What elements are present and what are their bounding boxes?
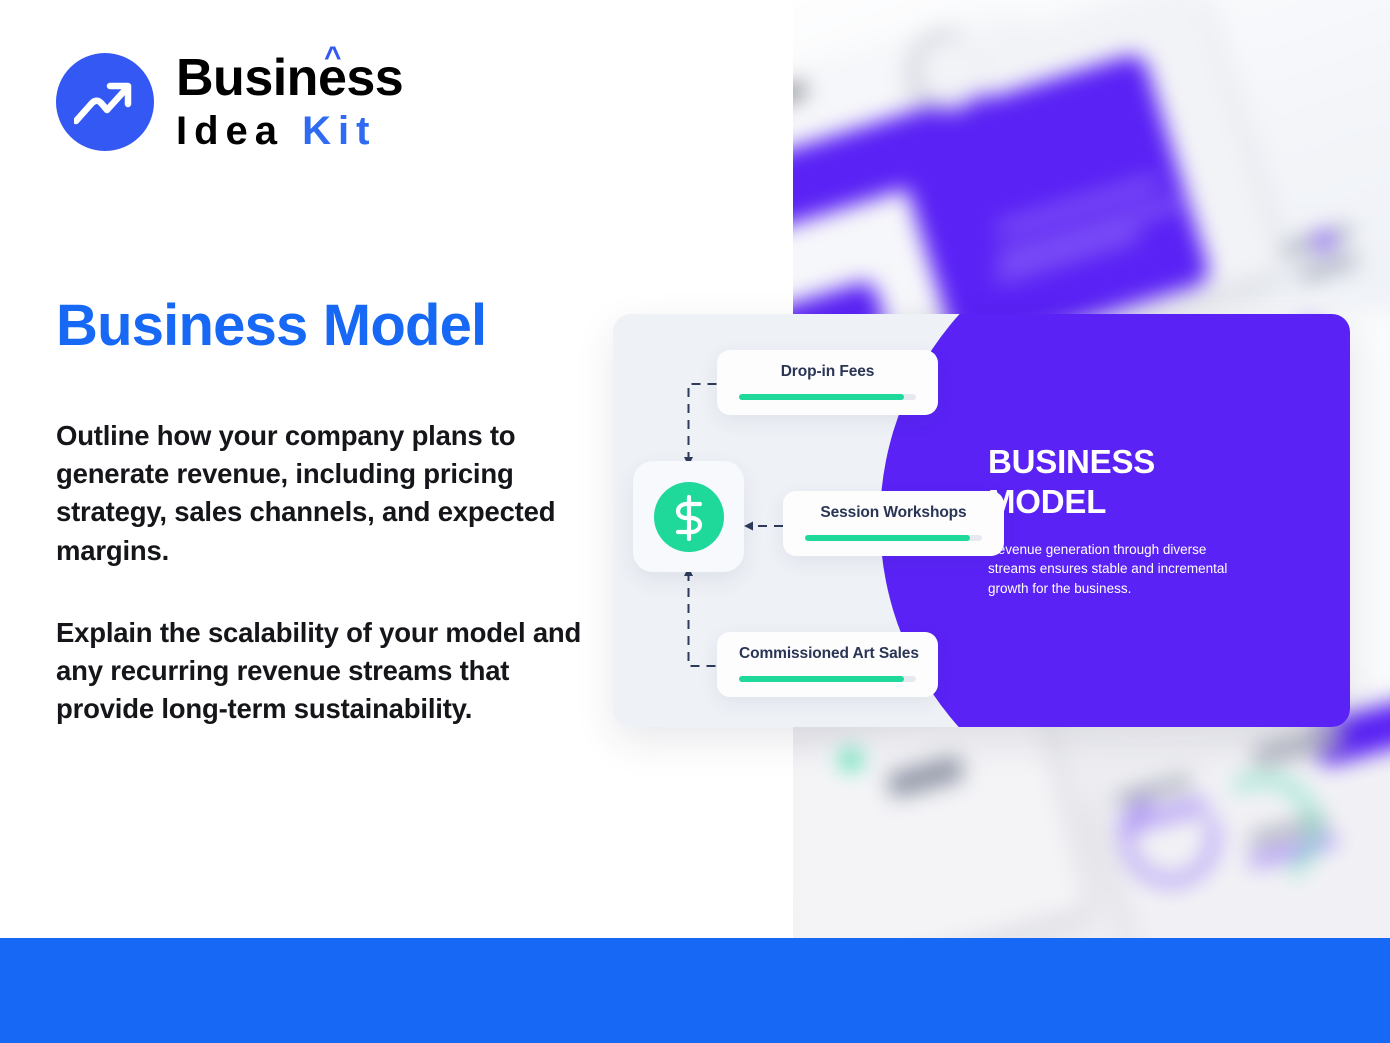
page-title: Business Model	[56, 296, 486, 357]
brand-name-line2-dark: Idea	[176, 109, 284, 153]
revenue-hub	[633, 461, 744, 572]
decorative-dot	[841, 750, 861, 770]
body-paragraph-1: Outline how your company plans to genera…	[56, 417, 586, 570]
callout-title-line1: BUSINESS	[988, 443, 1155, 480]
node-progress-fill	[739, 676, 904, 682]
callout-description: Revenue generation through diverse strea…	[988, 540, 1250, 600]
node-progress-fill	[805, 535, 970, 541]
slide-canvas: Business ^ Idea Kit Business Model Outli…	[0, 0, 1390, 1043]
revenue-stream-node[interactable]: Commissioned Art Sales	[717, 632, 938, 697]
business-model-feature-card: Drop-in Fees Session Workshops Commissio…	[613, 314, 1350, 727]
brand-name-line2-accent: Kit	[302, 109, 376, 153]
trending-up-arrow-icon	[56, 53, 154, 151]
dollar-sign-icon	[654, 482, 724, 552]
callout-content: BUSINESS MODEL Revenue generation throug…	[988, 442, 1250, 599]
node-label: Commissioned Art Sales	[739, 645, 916, 663]
bottom-accent-bar	[0, 938, 1390, 1043]
decorative-dot	[1313, 230, 1335, 252]
node-progress-track	[805, 535, 982, 541]
node-label: Session Workshops	[805, 504, 982, 522]
brand-accent-caret-icon: ^	[324, 43, 341, 73]
body-paragraph-2: Explain the scalability of your model an…	[56, 614, 586, 729]
node-progress-fill	[739, 394, 904, 400]
node-progress-track	[739, 676, 916, 682]
callout-title-line2: MODEL	[988, 483, 1106, 520]
revenue-stream-node[interactable]: Drop-in Fees	[717, 350, 938, 415]
revenue-stream-node[interactable]: Session Workshops	[783, 491, 1004, 556]
brand-name-line1-text: Business	[176, 49, 403, 107]
node-progress-track	[739, 394, 916, 400]
brand-name-line1: Business ^	[176, 52, 403, 104]
brand-name-line2: Idea Kit	[176, 111, 403, 151]
body-copy: Outline how your company plans to genera…	[56, 417, 586, 729]
brand-logo: Business ^ Idea Kit	[56, 52, 403, 151]
callout-title: BUSINESS MODEL	[988, 442, 1250, 523]
brand-wordmark: Business ^ Idea Kit	[176, 52, 403, 151]
node-label: Drop-in Fees	[739, 363, 916, 381]
